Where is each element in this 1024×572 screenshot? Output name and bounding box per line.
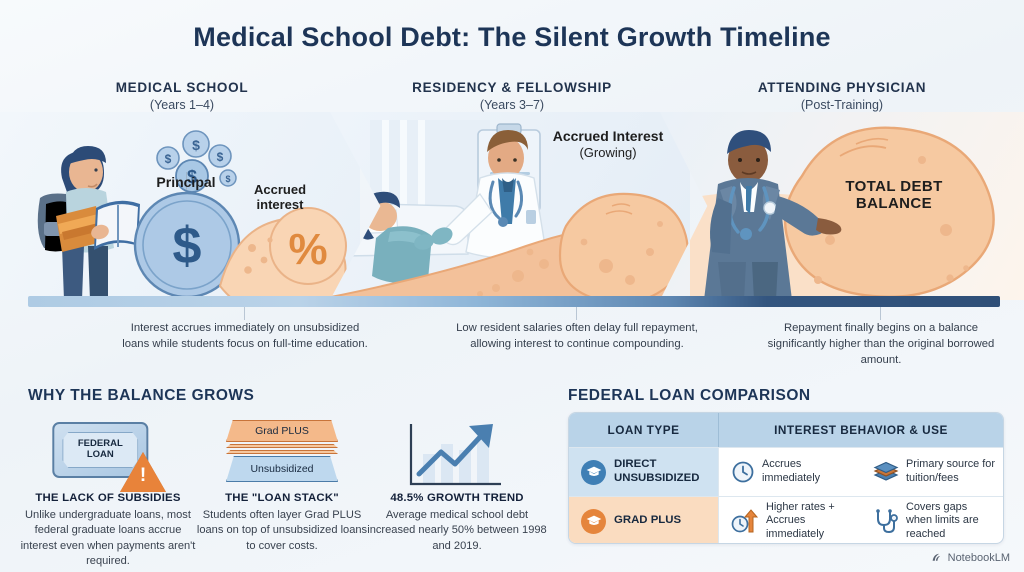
infographic-root: Medical School Debt: The Silent Growth T… — [0, 0, 1024, 572]
stage-header-attending: ATTENDING PHYSICIAN (Post-Training) — [702, 80, 982, 112]
stage-header-residency: RESIDENCY & FELLOWSHIP (Years 3–7) — [372, 80, 652, 112]
trend-chart-svg — [397, 418, 517, 492]
stage-caption-medical-school: Interest accrues immediately on unsubsid… — [120, 320, 370, 352]
stage-caption-residency: Low resident salaries often delay full r… — [452, 320, 702, 352]
timeline-illustration-band: $ $ $ $ $ $ % — [0, 112, 1024, 300]
label-total-debt-balance: TOTAL DEBT BALANCE — [828, 178, 960, 213]
stage-subheading: (Years 1–4) — [42, 98, 322, 112]
stage-caption-attending: Repayment finally begins on a balance si… — [756, 320, 1006, 368]
graduation-cap-icon — [581, 460, 606, 485]
behavior-item: Covers gaps when limits are reached — [861, 501, 1003, 542]
federal-loan-line2: LOAN — [87, 449, 114, 460]
stage-heading: ATTENDING PHYSICIAN — [702, 80, 982, 95]
table-cell-behavior: Accrues immediately Primary source for t… — [719, 448, 1003, 496]
table-header-row: LOAN TYPE INTEREST BEHAVIOR & USE — [569, 413, 1003, 447]
loan-type-name: DIRECT UNSUBSIDIZED — [614, 458, 718, 485]
stage-panel-medical-school: $ $ $ $ $ $ % — [0, 112, 360, 300]
books-icon — [873, 460, 899, 484]
behavior-text: Primary source for tuition/fees — [906, 458, 995, 485]
section-heading-why-balance-grows: WHY THE BALANCE GROWS — [28, 387, 254, 405]
stage-subheading: (Post-Training) — [702, 98, 982, 112]
why-card-description: Unlike undergraduate loans, most federal… — [18, 508, 198, 569]
section-heading-federal-loan-comparison: FEDERAL LOAN COMPARISON — [568, 387, 811, 405]
stack-slab-divider — [226, 450, 338, 454]
stack-slab-unsubsidized: Unsubsidized — [226, 456, 338, 482]
stage-subheading: (Years 3–7) — [372, 98, 652, 112]
stack-slab-grad-plus: Grad PLUS — [226, 420, 338, 442]
table-header-interest-behavior: INTEREST BEHAVIOR & USE — [719, 413, 1003, 447]
timeline-axis-bar — [28, 296, 1000, 307]
table-cell-behavior: Higher rates + Accrues immediately Cover… — [719, 497, 1003, 544]
stage-panel-attending: TOTAL DEBT BALANCE — [660, 112, 1024, 300]
clock-up-arrow-icon — [731, 508, 759, 534]
behavior-item: Primary source for tuition/fees — [861, 458, 1003, 485]
stack-slab-divider — [226, 444, 338, 448]
why-card-title: THE LACK OF SUBSIDIES — [18, 492, 198, 504]
stage-panel-residency: Accrued Interest (Growing) — [330, 112, 690, 300]
timeline-tick — [244, 307, 245, 320]
federal-loan-line1: FEDERAL — [78, 438, 123, 449]
why-card-description: Average medical school debt increased ne… — [366, 508, 548, 554]
stethoscope-icon — [873, 508, 899, 534]
behavior-item: Higher rates + Accrues immediately — [719, 501, 861, 542]
table-cell-loan-type: GRAD PLUS — [569, 497, 719, 544]
clock-icon — [731, 460, 755, 484]
watermark-text: NotebookLM — [948, 552, 1010, 564]
timeline-tick — [576, 307, 577, 320]
timeline-tick — [880, 307, 881, 320]
why-card-growth-trend: 48.5% GROWTH TREND Average medical schoo… — [366, 412, 548, 554]
watermark: NotebookLM — [931, 551, 1010, 564]
svg-text:$: $ — [173, 217, 202, 275]
why-card-title: 48.5% GROWTH TREND — [366, 492, 548, 504]
page-title: Medical School Debt: The Silent Growth T… — [0, 22, 1024, 53]
notebooklm-logo-icon — [931, 551, 944, 564]
behavior-text: Accrues immediately — [762, 458, 853, 485]
warning-triangle-icon — [120, 452, 166, 492]
table-row: GRAD PLUS Higher rates + Accrues immedia… — [569, 496, 1003, 544]
stage-heading: MEDICAL SCHOOL — [42, 80, 322, 95]
table-cell-loan-type: DIRECT UNSUBSIDIZED — [569, 448, 719, 496]
svg-text:%: % — [288, 225, 327, 274]
stage-heading: RESIDENCY & FELLOWSHIP — [372, 80, 652, 95]
why-card-lack-of-subsidies: FEDERAL LOAN THE LACK OF SUBSIDIES Unlik… — [18, 412, 198, 569]
label-principal: Principal — [128, 174, 244, 190]
table-row: DIRECT UNSUBSIDIZED Accrues immediately — [569, 447, 1003, 496]
federal-loan-comparison-table: LOAN TYPE INTEREST BEHAVIOR & USE DIRECT… — [568, 412, 1004, 544]
svg-text:$: $ — [217, 150, 224, 164]
svg-text:$: $ — [165, 152, 172, 166]
growing-debt-blob-icon — [330, 180, 690, 300]
loan-type-name: GRAD PLUS — [614, 514, 681, 528]
upward-trend-chart-icon — [366, 412, 548, 490]
federal-loan-card-warning-icon: FEDERAL LOAN — [18, 412, 198, 490]
stage-header-medical-school: MEDICAL SCHOOL (Years 1–4) — [42, 80, 322, 112]
why-card-loan-stack: Grad PLUS Unsubsidized THE "LOAN STACK" … — [196, 412, 368, 554]
why-card-description: Students often layer Grad PLUS loans on … — [196, 508, 368, 554]
svg-text:$: $ — [192, 137, 200, 153]
loan-stack-graphic: Grad PLUS Unsubsidized — [226, 420, 338, 484]
label-accrued-interest-growing: Accrued Interest (Growing) — [548, 128, 668, 160]
graduation-cap-icon — [581, 509, 606, 534]
why-card-title: THE "LOAN STACK" — [196, 492, 368, 504]
loan-stack-icon: Grad PLUS Unsubsidized — [196, 412, 368, 490]
behavior-text: Higher rates + Accrues immediately — [766, 501, 853, 542]
table-header-loan-type: LOAN TYPE — [569, 413, 719, 447]
behavior-item: Accrues immediately — [719, 458, 861, 485]
label-accrued-interest: Accrued interest — [230, 182, 330, 212]
behavior-text: Covers gaps when limits are reached — [906, 501, 995, 542]
